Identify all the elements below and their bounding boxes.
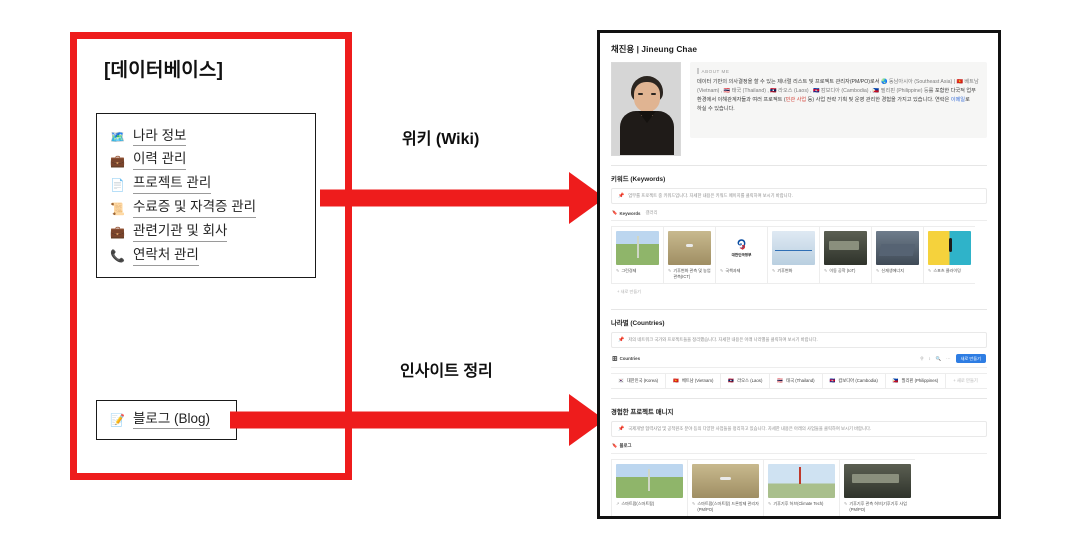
blog-card[interactable]: 📝 블로그 (Blog) — [96, 400, 237, 440]
scroll-icon: 📜 — [110, 201, 125, 216]
country-chip[interactable]: 🇰🇷대한민국 (Korea) — [611, 374, 666, 388]
database-toolbar: 🔖 블로그 — [611, 443, 987, 454]
section-title: 나라별 (Countries) — [611, 318, 987, 327]
card-caption-text: 그린경제 — [621, 268, 636, 274]
card-caption: ✎기후변화 관측 및 농업 관측(ICT) — [668, 268, 711, 279]
wiki-page-frame: 채진용 | Jineung Chae ABOUT ME 데이터 기반의 의사결정… — [597, 30, 1001, 519]
insight-arrow — [230, 394, 605, 446]
country-chip[interactable]: 🇻🇳베트남 (Vietnam) — [666, 374, 721, 388]
document-icon: 📄 — [110, 177, 125, 192]
about-kicker: ABOUT ME — [697, 68, 980, 74]
section-title: 키워드 (Keywords) — [611, 174, 987, 183]
card-caption: ✎기후변화 — [772, 268, 815, 274]
menu-item-label: 프로젝트 관리 — [133, 175, 211, 194]
database-toolbar: 🔖 Keywords 갤러리 — [611, 210, 987, 221]
gallery-card[interactable]: ✎프로젝트 매니지먼트(기후 변화(Climate 데이터 분석) 사업 — [839, 517, 915, 519]
pencil-icon: ✎ — [772, 268, 775, 273]
card-caption-text: 국책과제 — [725, 268, 740, 274]
database-menu-card: 🗺️ 나라 정보 💼 이력 관리 📄 프로젝트 관리 📜 수료증 및 자격증 관… — [96, 113, 316, 278]
flag-icon: 🇰🇭 — [830, 378, 836, 384]
db-tag[interactable]: 🔖 Keywords — [612, 210, 640, 216]
divider — [611, 165, 987, 166]
callout-text: 저의 네트워크 국가와 프로젝트들을 정리했습니다. 자세한 내용은 아래 나라… — [628, 337, 817, 343]
section-keywords: 키워드 (Keywords) 📌 업무를 프로젝트 중 키워드입니다. 자세한 … — [611, 174, 987, 300]
new-item-button[interactable]: + 새로 만들기 — [946, 374, 985, 388]
divider — [611, 398, 987, 399]
country-chip[interactable]: 🇹🇭태국 (Thailand) — [770, 374, 822, 388]
flag-icon: 🇵🇭 — [893, 378, 899, 384]
card-thumbnail — [876, 231, 919, 265]
section-callout: 📌 저의 네트워크 국가와 프로젝트들을 정리했습니다. 자세한 내용은 아래 … — [611, 332, 987, 348]
gallery-card[interactable]: ✎프로젝트 관리자 (PM/PO) — [687, 517, 763, 519]
gallery-card[interactable]: ✎프로젝트 매니지먼트 전략 — [763, 517, 839, 519]
keyword-gallery: ✎그린경제✎기후변화 관측 및 농업 관측(ICT)대한민국정부✎국책과제✎기후… — [611, 226, 987, 300]
gallery-card[interactable]: ▦사물 인터넷(IoT) — [611, 517, 687, 519]
pin-icon: 📌 — [618, 193, 624, 199]
divider — [611, 309, 987, 310]
card-thumbnail — [692, 464, 759, 498]
wiki-arrow-label: 위키 (Wiki) — [402, 125, 479, 149]
card-caption: ✎기후기후 관측 허브(기후기후 사업 (PM/PO) — [844, 501, 911, 512]
pencil-icon: ✎ — [876, 268, 879, 273]
section-callout: 📌 업무를 프로젝트 중 키워드입니다. 자세한 내용은 키워드 페이지를 클릭… — [611, 188, 987, 204]
flag-icon: 🇱🇦 — [728, 378, 734, 384]
card-caption: ✎국책과제 — [720, 268, 763, 274]
card-caption: ✎스마트팜(스마트팜) 드론방제 관리자 (PM/PO) — [692, 501, 759, 512]
db-view-label[interactable]: 갤러리 — [645, 210, 657, 216]
new-item-button[interactable]: + 새로 만들기 — [611, 284, 663, 300]
db-tag[interactable]: 🗄 Countries — [612, 356, 640, 362]
diagram-canvas: [데이터베이스] 🗺️ 나라 정보 💼 이력 관리 📄 프로젝트 관리 📜 수료… — [0, 0, 1080, 550]
menu-item-project[interactable]: 📄 프로젝트 관리 — [97, 173, 315, 197]
pin-icon: 📌 — [618, 337, 624, 343]
card-caption: ✎스포츠 클라이밍 — [928, 268, 971, 274]
section-projects: 경험한 프로젝트 매니지 📌 국제개발 협력사업 및 공적원조 분야 등의 다양… — [611, 407, 987, 519]
project-gallery: ↗스마트팜(스마트팜)✎스마트팜(스마트팜) 드론방제 관리자 (PM/PO)✎… — [611, 459, 987, 519]
card-thumbnail: 대한민국정부 — [720, 231, 763, 265]
country-chip-label: 태국 (Thailand) — [786, 378, 814, 384]
filter-icon[interactable]: ⚲ — [920, 356, 923, 362]
pencil-icon: ✎ — [768, 501, 771, 506]
korea-gov-logo-icon — [735, 238, 748, 251]
briefcase-icon: 💼 — [110, 153, 125, 168]
card-thumbnail — [768, 464, 835, 498]
database-toolbar: 🗄 Countries ⚲ ↕ 🔍 ··· 새로 만들기 — [611, 354, 987, 368]
quote-bar-icon — [697, 68, 699, 74]
about-callout: ABOUT ME 데이터 기반의 의사결정을 할 수 있는 제너럴 리스트 및 … — [690, 62, 987, 138]
card-thumbnail — [928, 231, 971, 265]
phone-icon: 📞 — [110, 249, 125, 264]
about-paragraph: 데이터 기반의 의사결정을 할 수 있는 제너럴 리스트 및 프로젝트 관리자(… — [697, 78, 980, 114]
flag-icon: 🇰🇷 — [618, 378, 624, 384]
gallery-card[interactable]: ✎스포츠 클라이밍 — [923, 226, 975, 284]
avatar — [611, 62, 681, 156]
menu-item-label: 이력 관리 — [133, 151, 186, 170]
map-icon: 🗺️ — [110, 129, 125, 144]
about-text-run[interactable]: 이메일 — [951, 97, 965, 103]
card-caption-text: 기후기후 허브(Climate Tech) — [773, 501, 823, 507]
pencil-icon: ✎ — [720, 268, 723, 273]
section-title: 경험한 프로젝트 매니지 — [611, 407, 987, 416]
gallery-card[interactable]: ✎이동 공학 (IoT) — [819, 226, 871, 284]
new-button[interactable]: 새로 만들기 — [956, 354, 986, 363]
page-title: 채진용 | Jineung Chae — [611, 43, 987, 55]
country-chip[interactable]: 🇱🇦라오스 (Laos) — [721, 374, 770, 388]
wiki-arrow — [320, 172, 605, 224]
gallery-card[interactable]: ✎기후기후 허브(Climate Tech) — [763, 459, 839, 517]
gallery-card[interactable]: ✎그린경제 — [611, 226, 663, 284]
gallery-card[interactable]: 대한민국정부✎국책과제 — [715, 226, 767, 284]
sort-icon[interactable]: ↕ — [929, 356, 931, 361]
more-icon[interactable]: ··· — [946, 356, 950, 361]
pencil-icon: ✎ — [668, 268, 671, 273]
wiki-arrow-shaft — [320, 190, 570, 207]
gallery-card[interactable]: ✎스마트팜(스마트팜) 드론방제 관리자 (PM/PO) — [687, 459, 763, 517]
menu-item-country-info[interactable]: 🗺️ 나라 정보 — [97, 125, 315, 149]
card-caption-text: 이동 공학 (IoT) — [829, 268, 855, 274]
section-callout: 📌 국제개발 협력사업 및 공적원조 분야 등의 다양한 사업들을 정리하고 있… — [611, 421, 987, 437]
menu-item-label: 나라 정보 — [133, 128, 186, 147]
search-icon[interactable]: 🔍 — [936, 356, 941, 362]
card-thumbnail — [616, 464, 683, 498]
card-thumbnail — [824, 231, 867, 265]
country-chip-label: + 새로 만들기 — [953, 378, 978, 384]
menu-item-label: 수료증 및 자격증 관리 — [133, 199, 256, 218]
menu-item-career[interactable]: 💼 이력 관리 — [97, 149, 315, 173]
country-chip-row: 🇰🇷대한민국 (Korea)🇻🇳베트남 (Vietnam)🇱🇦라오스 (Laos… — [611, 373, 987, 389]
card-caption-text: 기후변화 — [777, 268, 792, 274]
about-section: ABOUT ME 데이터 기반의 의사결정을 할 수 있는 제너럴 리스트 및 … — [611, 62, 987, 156]
gallery-card[interactable]: ✎기후변화 — [767, 226, 819, 284]
gallery-card[interactable]: ↗스마트팜(스마트팜) — [611, 459, 687, 517]
insight-arrow-label: 인사이트 정리 — [400, 357, 493, 381]
card-caption: ✎그린경제 — [616, 268, 659, 274]
about-kicker-label: ABOUT ME — [702, 69, 730, 74]
menu-item-contacts[interactable]: 📞 연락처 관리 — [97, 244, 315, 268]
menu-item-blog[interactable]: 📝 블로그 (Blog) — [97, 408, 236, 432]
card-thumbnail — [772, 231, 815, 265]
card-thumbnail — [668, 231, 711, 265]
card-caption-text: 기후변화 관측 및 농업 관측(ICT) — [673, 268, 711, 279]
pencil-icon: ✎ — [616, 268, 619, 273]
card-caption: ✎신재생에너지 — [876, 268, 919, 274]
card-caption-text: 신재생에너지 — [881, 268, 904, 274]
about-text-run: 데이터 기반의 의사결정을 할 수 있는 제너럴 리스트 및 프로젝트 관리자(… — [697, 79, 881, 85]
menu-item-organizations[interactable]: 💼 관련기관 및 회사 — [97, 221, 315, 245]
country-chip-label: 라오스 (Laos) — [737, 378, 762, 384]
briefcase-icon: 💼 — [110, 225, 125, 240]
pencil-icon: ✎ — [928, 268, 931, 273]
menu-item-certificates[interactable]: 📜 수료증 및 자격증 관리 — [97, 197, 315, 221]
pencil-icon: ✎ — [844, 501, 847, 506]
gallery-card[interactable]: ✎기후변화 관측 및 농업 관측(ICT) — [663, 226, 715, 284]
callout-text: 업무를 프로젝트 중 키워드입니다. 자세한 내용은 키워드 페이지를 클릭하여… — [628, 193, 793, 199]
card-thumbnail — [844, 464, 911, 498]
card-caption: ✎기후기후 허브(Climate Tech) — [768, 501, 835, 507]
country-chip-label: 베트남 (Vietnam) — [682, 378, 714, 384]
menu-item-label: 연락처 관리 — [133, 247, 199, 266]
flag-icon: 🇻🇳 — [673, 378, 679, 384]
country-chip-label: 대한민국 (Korea) — [627, 378, 658, 384]
card-caption-text: 기후기후 관측 허브(기후기후 사업 (PM/PO) — [849, 501, 911, 512]
db-tag[interactable]: 🔖 블로그 — [612, 443, 632, 449]
pin-icon: 📌 — [618, 426, 624, 432]
card-caption-text: 스포츠 클라이밍 — [933, 268, 961, 274]
gallery-card[interactable]: ✎신재생에너지 — [871, 226, 923, 284]
database-title: [데이터베이스] — [104, 55, 223, 82]
about-text-run: 민관 사업 — [786, 97, 807, 103]
card-caption: ↗스마트팜(스마트팜) — [616, 501, 683, 507]
flag-icon: 🇹🇭 — [777, 378, 783, 384]
about-text-run: 🌏 동남아시아 (Southeast Asia) — [881, 79, 952, 85]
section-countries: 나라별 (Countries) 📌 저의 네트워크 국가와 프로젝트들을 정리했… — [611, 318, 987, 389]
callout-text: 국제개발 협력사업 및 공적원조 분야 등의 다양한 사업들을 정리하고 있습니… — [628, 426, 871, 432]
pencil-icon: ✎ — [692, 501, 695, 506]
gov-logo-caption: 대한민국정부 — [732, 253, 752, 258]
menu-item-label: 관련기관 및 회사 — [133, 223, 227, 242]
country-chip[interactable]: 🇵🇭필리핀 (Philippines) — [886, 374, 946, 388]
memo-icon: 📝 — [110, 412, 125, 427]
country-chip-label: 캄보디아 (Cambodia) — [838, 378, 877, 384]
country-chip[interactable]: 🇰🇭캄보디아 (Cambodia) — [823, 374, 886, 388]
insight-arrow-shaft — [230, 412, 570, 429]
menu-item-label: 블로그 (Blog) — [133, 411, 210, 430]
country-chip-label: 필리핀 (Philippines) — [902, 378, 939, 384]
pencil-icon: ✎ — [824, 268, 827, 273]
about-text-run: 등) 사업 전략 기획 및 운영 관리한 경험을 가지고 있습니다. 연락은 — [806, 97, 951, 103]
card-thumbnail — [616, 231, 659, 265]
card-caption-text: 스마트팜(스마트팜) 드론방제 관리자 (PM/PO) — [697, 501, 759, 512]
link-icon: ↗ — [616, 501, 619, 506]
card-caption-text: 스마트팜(스마트팜) — [621, 501, 654, 507]
gallery-card[interactable]: ✎기후기후 관측 허브(기후기후 사업 (PM/PO) — [839, 459, 915, 517]
card-caption: ✎이동 공학 (IoT) — [824, 268, 867, 274]
